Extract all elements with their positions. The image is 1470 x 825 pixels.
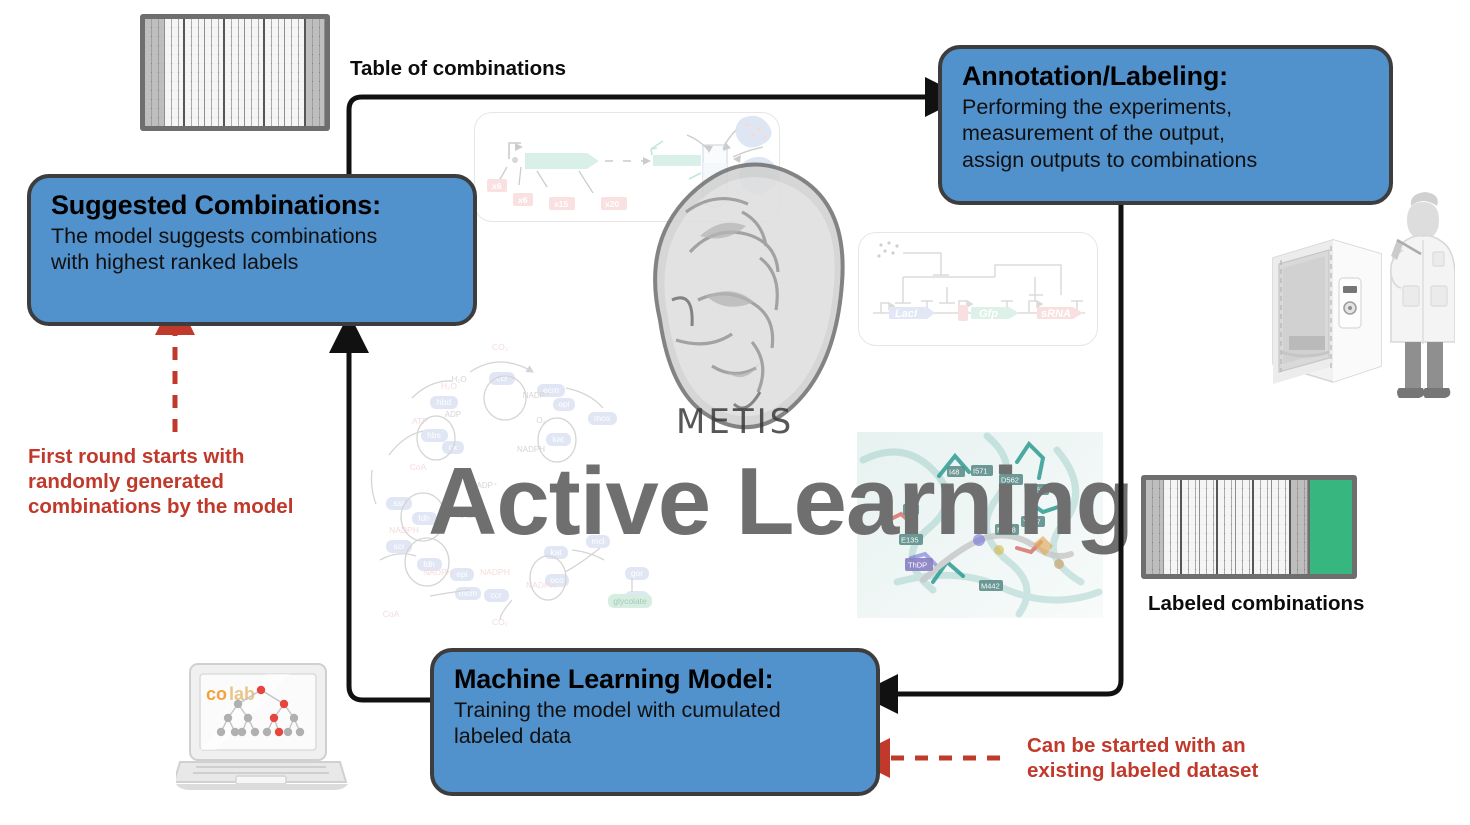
box-suggested-combinations-title: Suggested Combinations: [51,190,457,220]
diagram-canvas: ccrhbd ecmepi hbsck katmco ssrfdh scrfdh… [0,0,1470,825]
box-machine-learning-model-title: Machine Learning Model: [454,664,860,694]
box-annotation-labeling-title: Annotation/Labeling: [962,61,1373,91]
box-annotation-labeling[interactable]: Annotation/Labeling: Performing the expe… [938,45,1393,205]
caption-labeled-combinations: Labeled combinations [1148,592,1364,616]
box-machine-learning-model-body: Training the model with cumulated labele… [454,697,860,749]
note-existing-dataset: Can be started with an existing labeled … [1027,733,1367,783]
arrow-model-to-suggested [349,348,432,700]
note-first-round: First round starts with randomly generat… [28,444,358,519]
box-annotation-labeling-body: Performing the experiments, measurement … [962,94,1373,173]
caption-table-of-combinations: Table of combinations [350,57,566,81]
box-suggested-combinations-body: The model suggests combinations with hig… [51,223,457,275]
box-suggested-combinations[interactable]: Suggested Combinations: The model sugges… [27,174,477,326]
box-machine-learning-model[interactable]: Machine Learning Model: Training the mod… [430,648,880,796]
arrow-annotation-to-model [893,205,1121,694]
